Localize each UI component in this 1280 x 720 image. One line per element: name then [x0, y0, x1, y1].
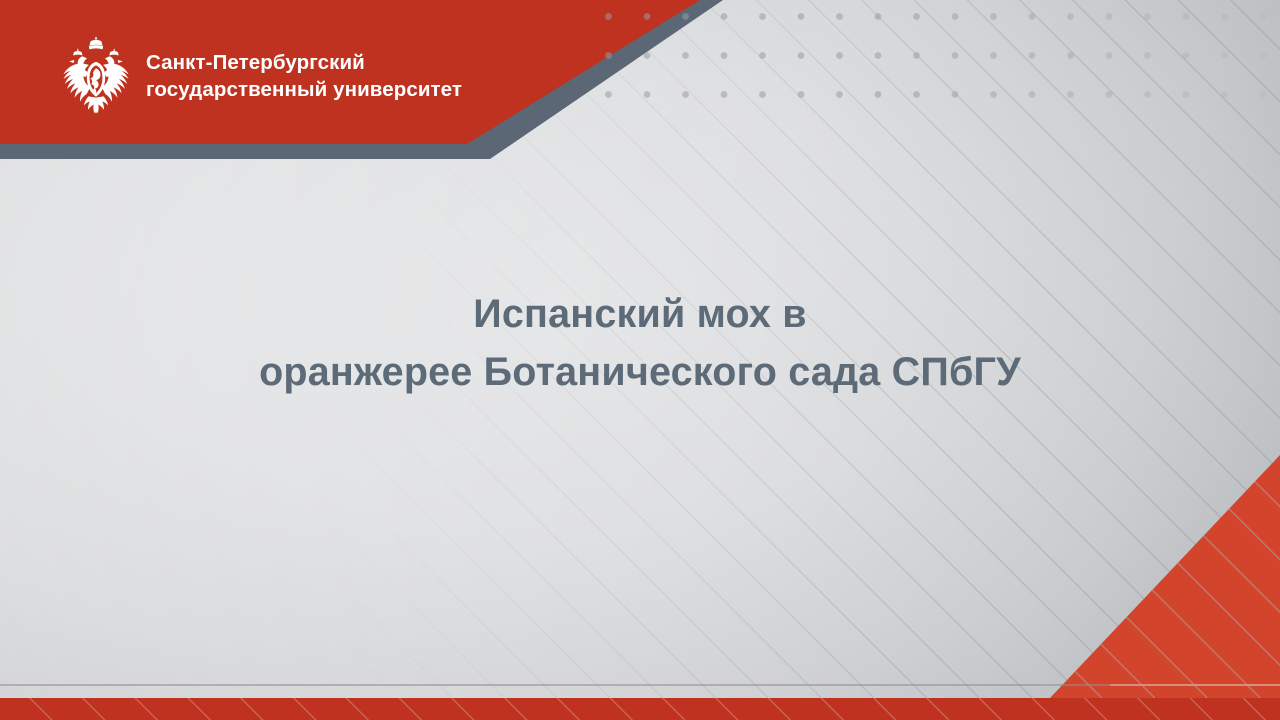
brand-lockup: Санкт-Петербургский государственный унив…	[60, 34, 462, 118]
brand-organization-name: Санкт-Петербургский государственный унив…	[146, 49, 462, 104]
page-title: Испанский мох в оранжерее Ботанического …	[0, 286, 1280, 401]
title-slide: Санкт-Петербургский государственный унив…	[0, 0, 1280, 720]
horizontal-rule-icon	[0, 684, 1280, 686]
bottom-accent-bar-stripes-icon	[0, 698, 1280, 720]
spbu-double-headed-eagle-emblem-icon	[60, 34, 132, 118]
slide-title-block: Испанский мох в оранжерее Ботанического …	[0, 286, 1280, 401]
dot-grid-pattern-icon	[600, 0, 1280, 100]
horizontal-rule-red-segment-icon	[1110, 684, 1280, 686]
